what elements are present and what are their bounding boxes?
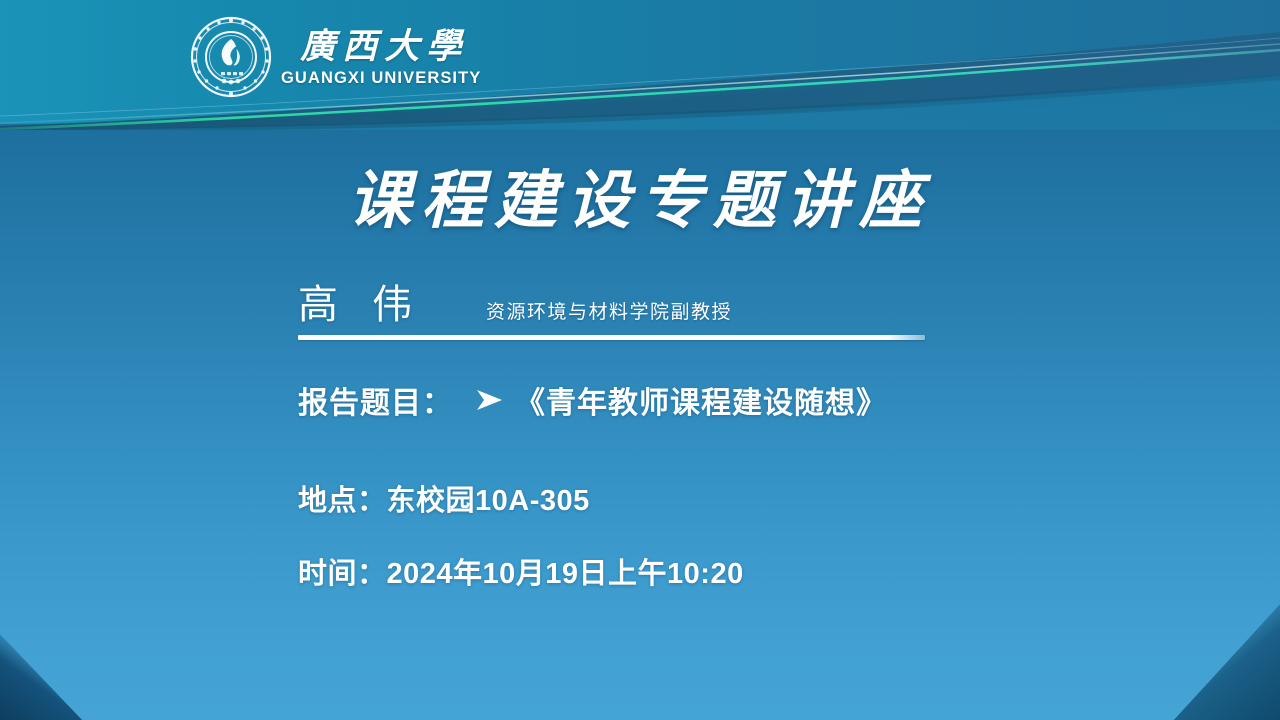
university-name-cn: 廣西大學: [294, 26, 468, 69]
venue-text: 地点：东校园10A-305: [298, 477, 958, 519]
topic-text: 《青年教师课程建设随想》: [515, 378, 887, 422]
university-name-block: 廣西大學 GUANGXI UNIVERSITY: [281, 26, 481, 89]
speaker-row: 高 伟 资源环境与材料学院副教授: [298, 272, 958, 328]
topic-label: 报告题目：: [298, 378, 453, 422]
bottom-left-wedge-decoration: [0, 630, 86, 720]
speaker-name: 高 伟: [298, 272, 424, 330]
speaker-affiliation: 资源环境与材料学院副教授: [486, 297, 732, 324]
university-logo: 廣西大學 GUANGXI UNIVERSITY: [190, 16, 481, 98]
university-seal-icon: [190, 16, 272, 98]
presentation-slide: 廣西大學 GUANGXI UNIVERSITY 课程建设专题讲座 高 伟 资源环…: [0, 0, 1280, 720]
university-name-en: GUANGXI UNIVERSITY: [281, 69, 481, 88]
bottom-right-wedge-decoration: [1172, 602, 1280, 720]
topic-row: 报告题目： 《青年教师课程建设随想》: [298, 378, 958, 422]
page-title: 课程建设专题讲座: [0, 150, 1280, 241]
speaker-divider: [298, 335, 925, 340]
arrow-bullet-icon: [475, 387, 505, 413]
slide-body: 高 伟 资源环境与材料学院副教授 报告题目： 《青年教师课程建设随想》 地点：东…: [298, 272, 958, 592]
time-text: 时间：2024年10月19日上午10:20: [298, 550, 958, 592]
